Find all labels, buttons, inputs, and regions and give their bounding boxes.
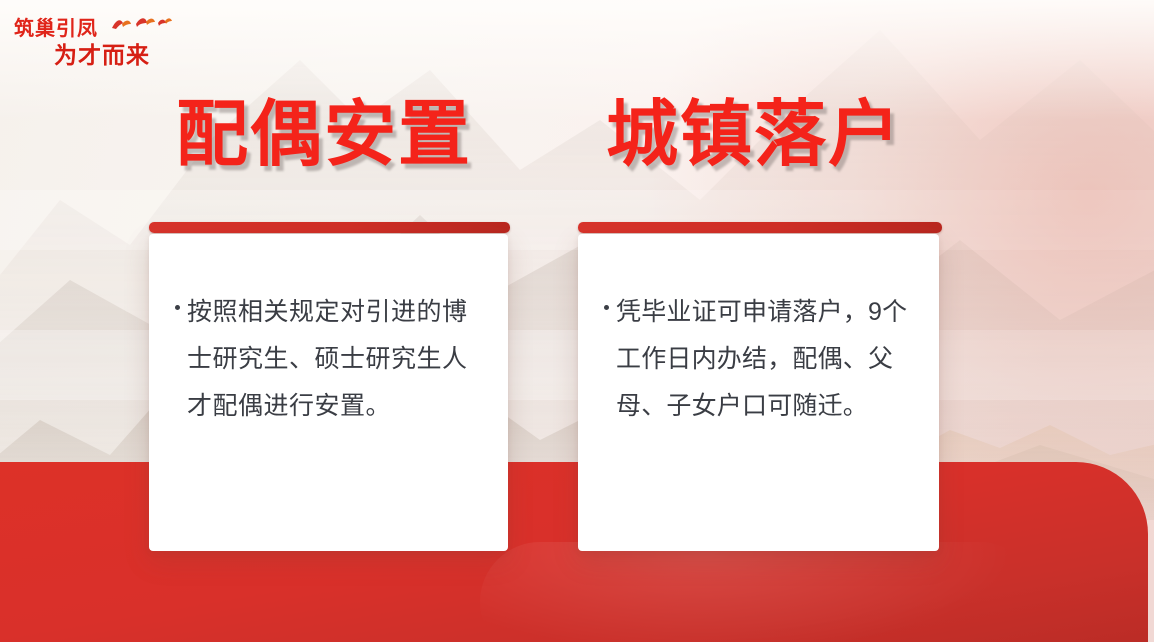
flying-birds-icon — [108, 14, 174, 36]
card-panel-1: 按照相关规定对引进的博士研究生、硕士研究生人才配偶进行安置。 — [149, 234, 508, 551]
card-body-1: 按照相关规定对引进的博士研究生、硕士研究生人才配偶进行安置。 — [149, 234, 508, 430]
section-title-2: 城镇落户 — [606, 96, 902, 174]
card-accent-bar-2 — [578, 222, 942, 233]
card-accent-bar-1 — [149, 222, 510, 233]
bullet-dot-icon — [604, 305, 609, 310]
section-title-1: 配偶安置 — [176, 96, 472, 174]
red-band-highlight — [480, 542, 1040, 642]
bullet-dot-icon — [175, 305, 180, 310]
card-bullet-text-1: 按照相关规定对引进的博士研究生、硕士研究生人才配偶进行安置。 — [187, 289, 482, 430]
list-item: 按照相关规定对引进的博士研究生、硕士研究生人才配偶进行安置。 — [175, 289, 482, 430]
card-spouse-placement: 按照相关规定对引进的博士研究生、硕士研究生人才配偶进行安置。 — [149, 222, 510, 551]
card-urban-household-registration: 凭毕业证可申请落户，9个工作日内办结，配偶、父母、子女户口可随迁。 — [578, 222, 942, 551]
card-panel-2: 凭毕业证可申请落户，9个工作日内办结，配偶、父母、子女户口可随迁。 — [578, 234, 939, 551]
card-body-2: 凭毕业证可申请落户，9个工作日内办结，配偶、父母、子女户口可随迁。 — [578, 234, 939, 430]
card-bullet-text-2: 凭毕业证可申请落户，9个工作日内办结，配偶、父母、子女户口可随迁。 — [616, 289, 913, 430]
slide-canvas: 筑巢引凤 为才而来 配偶安置 城镇落户 按照相关规定对引进的博士研究生、硕士研究… — [0, 0, 1154, 642]
logo-line-2: 为才而来 — [54, 36, 150, 70]
list-item: 凭毕业证可申请落户，9个工作日内办结，配偶、父母、子女户口可随迁。 — [604, 289, 913, 430]
brand-logo: 筑巢引凤 为才而来 — [12, 12, 192, 68]
